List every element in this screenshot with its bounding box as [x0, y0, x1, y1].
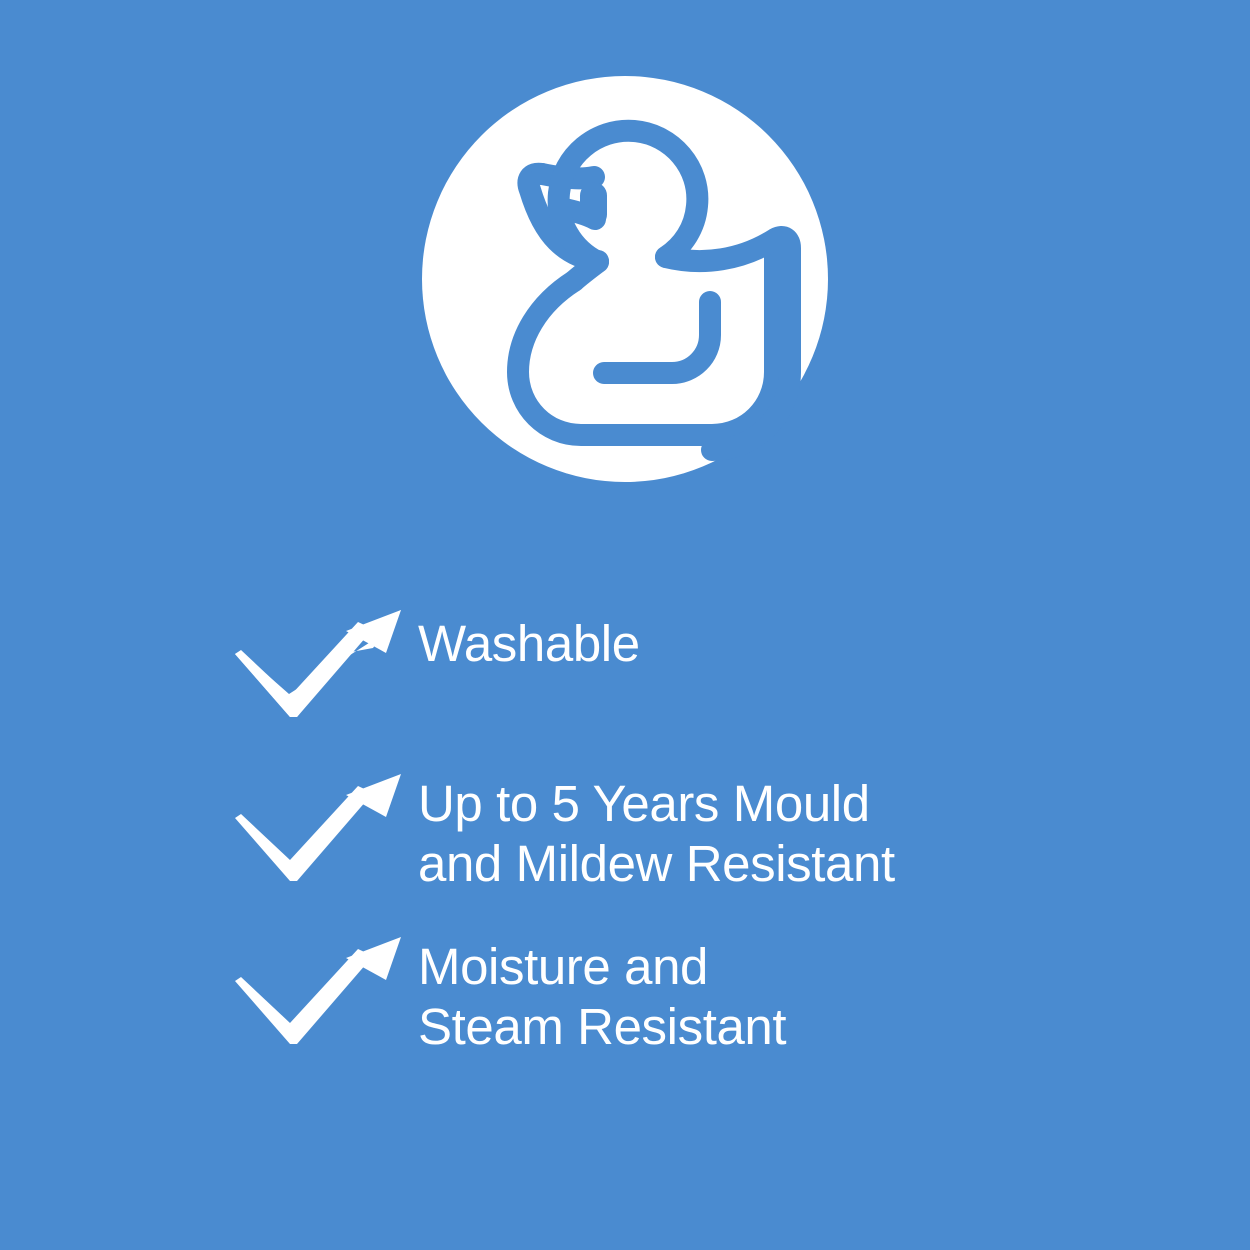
- feature-item: Moisture and Steam Resistant: [0, 935, 1250, 1056]
- duck-badge: [422, 76, 828, 482]
- feature-item: Up to 5 Years Mould and Mildew Resistant: [0, 772, 1250, 893]
- check-arrow-icon: [233, 608, 408, 720]
- feature-label: Moisture and Steam Resistant: [418, 935, 1250, 1056]
- check-arrow-icon: [233, 935, 408, 1047]
- check-arrow-glyph: [233, 772, 405, 884]
- feature-item: Washable: [0, 608, 1250, 728]
- feature-card: Washable Up to 5 Years Mould and Mildew …: [0, 0, 1250, 1250]
- check-arrow-glyph: [233, 935, 405, 1047]
- feature-label: Up to 5 Years Mould and Mildew Resistant: [418, 772, 1250, 893]
- check-arrow-icon: [233, 772, 408, 884]
- feature-label: Washable: [418, 608, 1250, 674]
- rubber-duck-icon: [422, 76, 828, 482]
- check-arrow-glyph: [233, 608, 405, 720]
- feature-list: Washable Up to 5 Years Mould and Mildew …: [0, 600, 1250, 1057]
- duck-eye: [580, 182, 607, 228]
